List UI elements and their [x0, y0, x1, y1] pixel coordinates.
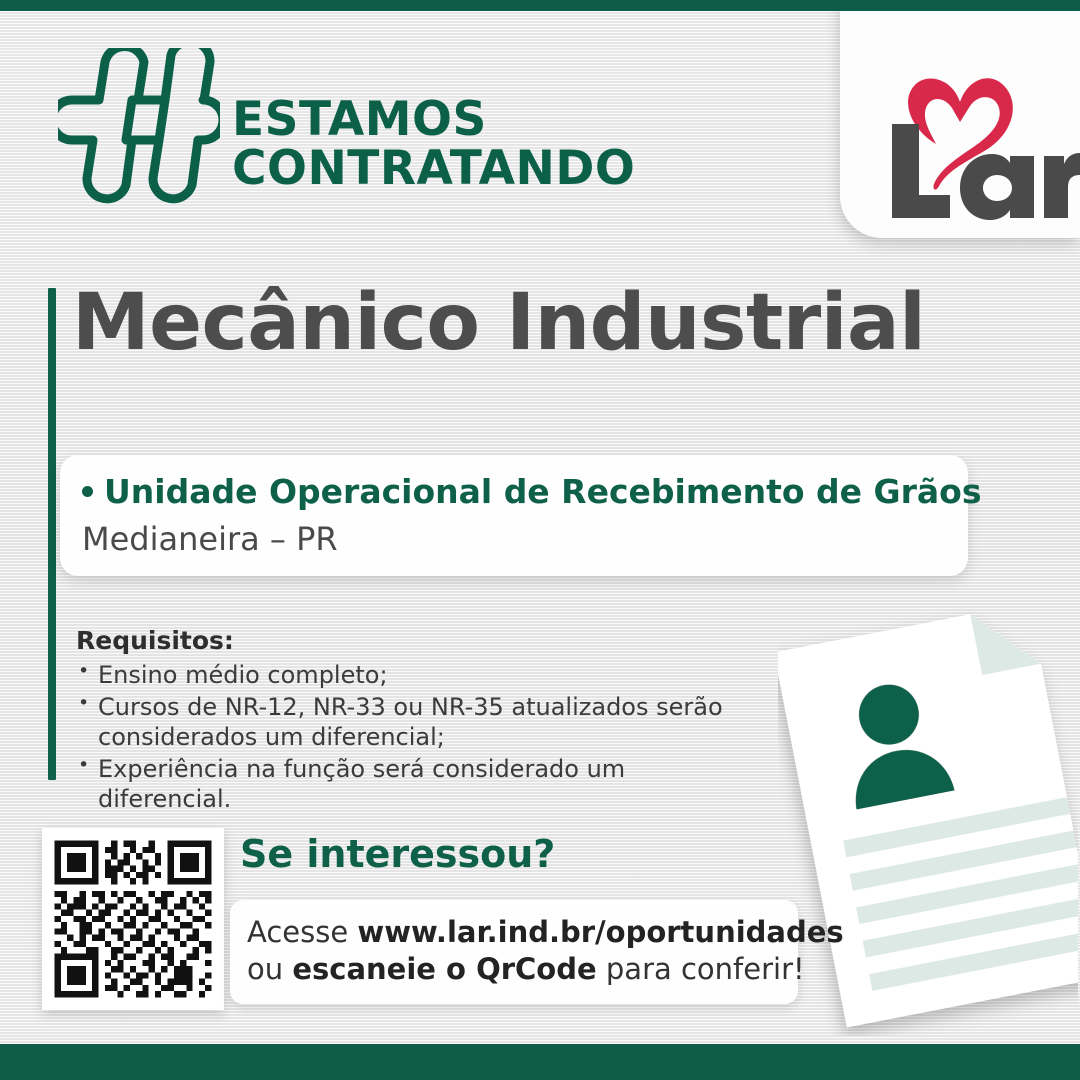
bullet-icon [82, 486, 93, 497]
hashtag-icon [58, 48, 220, 210]
requirements-block: Requisitos: Ensino médio completo; Curso… [76, 626, 736, 816]
unit-location-card: Unidade Operacional de Recebimento de Gr… [60, 455, 968, 576]
job-posting-poster: ESTAMOS CONTRATANDO Mecânico Industrial [0, 0, 1080, 1080]
cta-line2-bold: escaneie o QrCode [292, 952, 596, 986]
cta-line-2: ou escaneie o QrCode para conferir! [230, 951, 798, 988]
requirements-heading: Requisitos: [76, 626, 736, 655]
header-line-2: CONTRATANDO [232, 145, 635, 194]
resume-document-icon [778, 596, 1078, 1036]
requirement-item: Experiência na função será considerado u… [76, 754, 736, 814]
unit-name: Unidade Operacional de Recebimento de Gr… [104, 472, 981, 511]
cta-line-1: Acesse www.lar.ind.br/oportunidades [230, 914, 798, 951]
unit-city: Medianeira – PR [60, 520, 968, 558]
header-line-1: ESTAMOS [232, 96, 635, 145]
top-green-rule [0, 0, 1080, 11]
bottom-green-rule [0, 1044, 1080, 1080]
header-title: ESTAMOS CONTRATANDO [232, 96, 635, 194]
unit-name-row: Unidade Operacional de Recebimento de Gr… [60, 471, 968, 514]
cta-line2-prefix: ou [247, 952, 292, 986]
brand-logo [840, 32, 1080, 222]
brand-logo-card [840, 0, 1080, 238]
left-accent-bar [48, 288, 56, 780]
cta-box: Acesse www.lar.ind.br/oportunidades ou e… [230, 900, 798, 1004]
cta-url[interactable]: www.lar.ind.br/oportunidades [357, 915, 843, 949]
requirement-item: Cursos de NR-12, NR-33 ou NR-35 atualiza… [76, 692, 736, 752]
cta-line2-suffix: para conferir! [597, 952, 805, 986]
qr-code-icon[interactable] [42, 828, 224, 1010]
page-title: Mecânico Industrial [72, 278, 925, 368]
cta-heading: Se interessou? [240, 832, 555, 876]
requirement-item: Ensino médio completo; [76, 660, 736, 690]
cta-prefix: Acesse [247, 915, 357, 949]
